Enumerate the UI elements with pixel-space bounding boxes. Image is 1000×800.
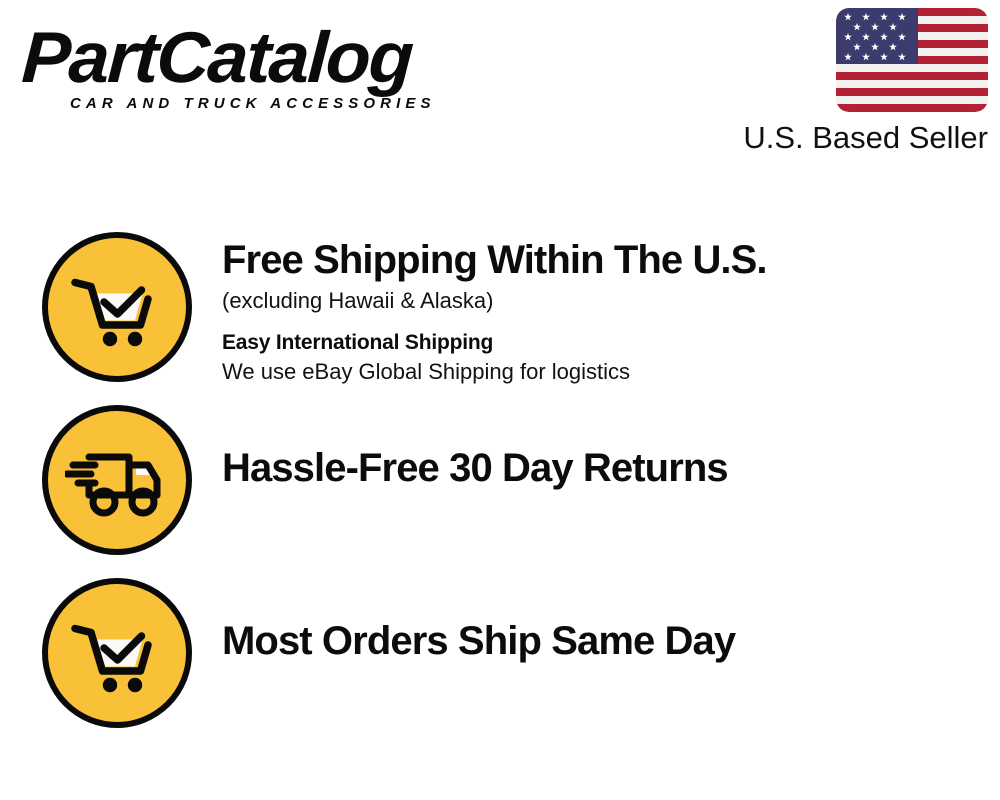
feature-row: Most Orders Ship Same Day — [0, 578, 1000, 728]
icon-circle — [42, 405, 192, 555]
feature-row: Free Shipping Within The U.S. (excluding… — [0, 232, 1000, 386]
feature-subtext: (excluding Hawaii & Alaska) — [222, 287, 1000, 315]
feature-icon-same-day — [42, 578, 192, 728]
feature-icon-returns — [42, 405, 192, 555]
part-catalog-logo: PartCatalog CAR AND TRUCK ACCESSORIES — [22, 22, 492, 120]
brand-wordmark: PartCatalog — [20, 22, 503, 94]
feature-subtext-light: We use eBay Global Shipping for logistic… — [222, 358, 1000, 386]
us-based-seller-label: U.S. Based Seller — [743, 121, 988, 155]
feature-text-block: Free Shipping Within The U.S. (excluding… — [222, 232, 1000, 386]
us-based-seller-badge: U.S. Based Seller — [708, 8, 988, 155]
icon-circle — [42, 232, 192, 382]
feature-subtext-bold: Easy International Shipping — [222, 329, 1000, 356]
icon-circle — [42, 578, 192, 728]
feature-heading: Free Shipping Within The U.S. — [222, 237, 1000, 283]
feature-row: Hassle-Free 30 Day Returns — [0, 405, 1000, 555]
promo-banner: PartCatalog CAR AND TRUCK ACCESSORIES — [0, 0, 1000, 800]
feature-heading: Hassle-Free 30 Day Returns — [222, 445, 1000, 491]
feature-heading: Most Orders Ship Same Day — [222, 618, 1000, 664]
us-flag-icon — [836, 8, 988, 112]
feature-text-block: Most Orders Ship Same Day — [222, 578, 1000, 664]
feature-text-block: Hassle-Free 30 Day Returns — [222, 405, 1000, 491]
feature-icon-free-shipping — [42, 232, 192, 382]
